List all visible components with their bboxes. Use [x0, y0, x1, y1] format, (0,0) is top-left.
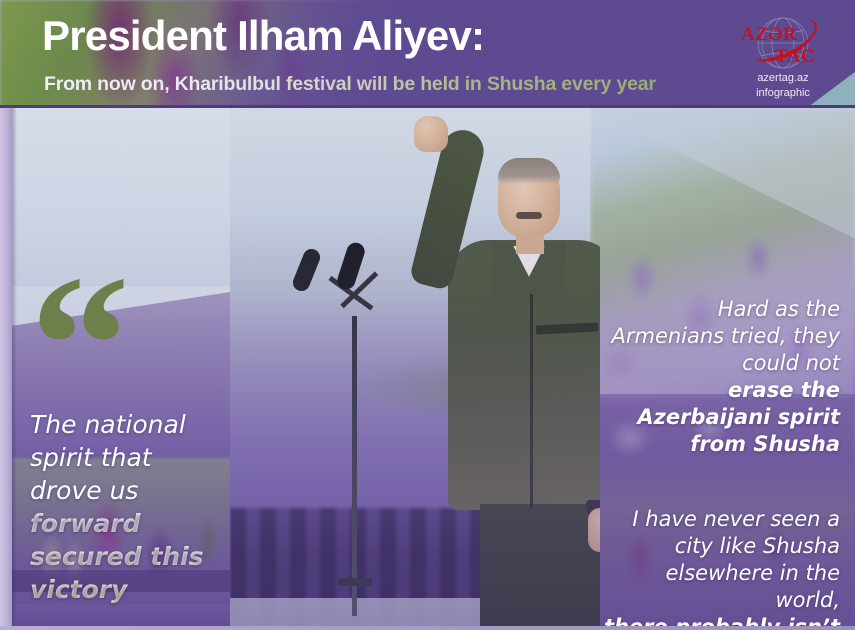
figure-legs: [480, 504, 600, 630]
quote-right-first: Hard as the Armenians tried, they could …: [600, 296, 840, 458]
page-title: President Ilham Aliyev:: [42, 12, 484, 60]
figure-jacket-zipper: [530, 294, 533, 508]
quote-left-bold: forward secured this victory: [30, 507, 230, 606]
figure-raised-fist: [414, 116, 448, 152]
azertac-logo-block: AZƏR TAC azertag.az infographic: [733, 16, 833, 100]
quote-right-second-regular: I have never seen a city like Shusha els…: [632, 507, 840, 612]
collage-body: “ ” The national spirit that drove us fo…: [0, 108, 855, 630]
microphone-stand: [352, 316, 357, 616]
microphone-base: [338, 578, 372, 586]
left-border-strip: [0, 108, 12, 630]
logo-kind-label: infographic: [733, 87, 833, 100]
quote-right-first-bold: erase the Azerbaijani spirit from Shusha: [600, 377, 840, 458]
right-panel-diagonal: [590, 108, 855, 238]
quote-right-second: I have never seen a city like Shusha els…: [600, 506, 840, 630]
opening-quote-mark: “: [30, 268, 130, 424]
azertac-globe-swoosh-icon: AZƏR TAC: [733, 16, 833, 70]
bottom-border-strip: [0, 626, 855, 630]
quote-left: The national spirit that drove us forwar…: [30, 408, 230, 606]
logo-site-label: azertag.az: [733, 72, 833, 85]
svg-text:AZƏR: AZƏR: [741, 24, 797, 45]
figure-moustache: [516, 212, 542, 219]
azertac-logo-icon: AZƏR TAC: [733, 16, 833, 70]
figure-right-hand: [588, 508, 600, 552]
quote-right-first-regular: Hard as the Armenians tried, they could …: [611, 297, 840, 375]
page-subtitle: From now on, Kharibulbul festival will b…: [44, 73, 656, 96]
svg-text:TAC: TAC: [775, 46, 815, 67]
center-speaker-photo: [230, 108, 600, 630]
left-border-shadow: [12, 108, 17, 630]
header-banner: President Ilham Aliyev: From now on, Kha…: [0, 0, 855, 108]
figure-hair: [498, 158, 560, 184]
infographic-poster: President Ilham Aliyev: From now on, Kha…: [0, 0, 855, 630]
quote-left-regular: The national spirit that drove us: [30, 410, 186, 505]
header-bottom-rule: [0, 105, 855, 108]
